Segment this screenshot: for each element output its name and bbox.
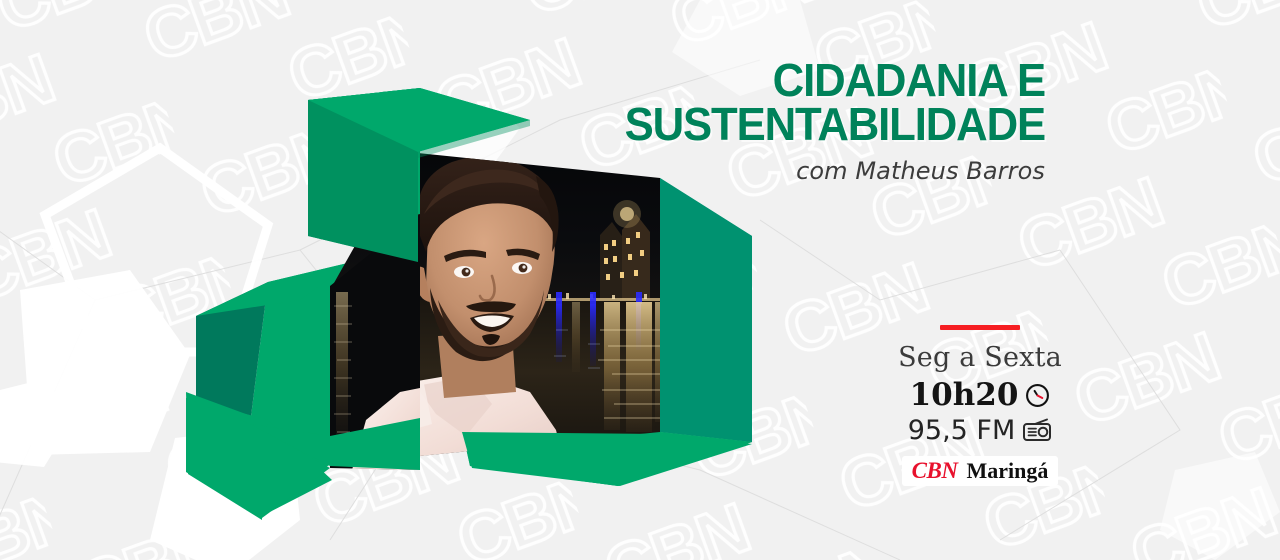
clock-icon: [1025, 383, 1050, 408]
schedule-frequency: 95,5 FM: [908, 416, 1016, 446]
program-banner: CBN CBN: [0, 0, 1280, 560]
schedule-time: 10h20: [910, 379, 1019, 412]
schedule-block: Seg a Sexta 10h20 95,5 FM: [880, 325, 1080, 486]
headline-line-1: CIDADANIA E: [499, 58, 1045, 102]
cbn-station-logo: CBN Maringá: [902, 456, 1059, 486]
schedule-frequency-row: 95,5 FM: [880, 416, 1080, 446]
headline-byline: com Matheus Barros: [470, 157, 1045, 185]
station-city: Maringá: [966, 460, 1048, 482]
headline-line-2: SUSTENTABILIDADE: [499, 102, 1045, 146]
schedule-time-row: 10h20: [880, 379, 1080, 412]
cbn-wordmark: CBN: [912, 459, 958, 482]
radio-icon: [1022, 418, 1052, 443]
red-divider: [940, 325, 1020, 330]
schedule-days: Seg a Sexta: [880, 344, 1080, 371]
headline-block: CIDADANIA E SUSTENTABILIDADE com Matheus…: [470, 58, 1045, 185]
